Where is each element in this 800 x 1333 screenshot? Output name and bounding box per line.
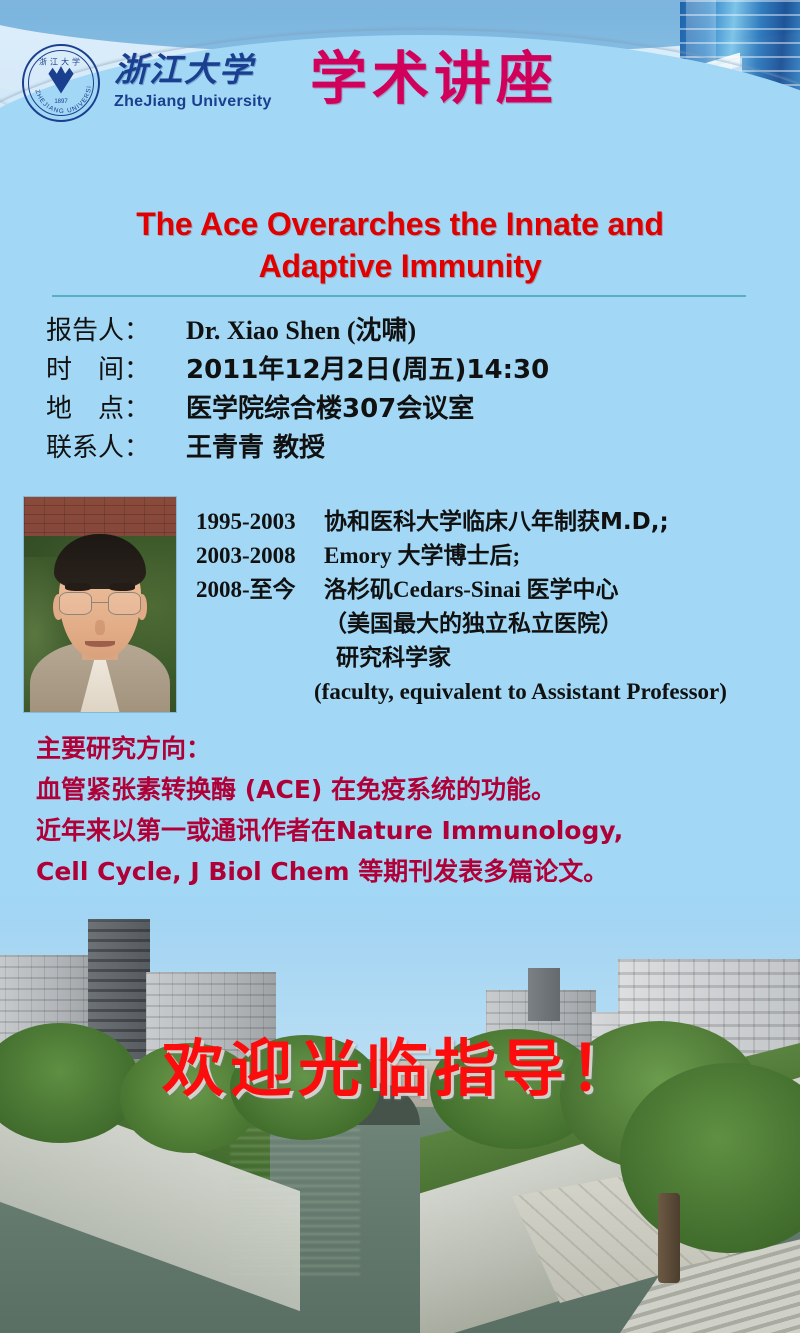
research-line: Cell Cycle, J Biol Chem 等期刊发表多篇论文。 [36, 851, 776, 892]
lecture-info-block: 报告人： Dr. Xiao Shen (沈啸) 时 间： 2011年12月2日(… [46, 310, 549, 466]
lecture-title-line-1: The Ace Overarches the Innate and [50, 203, 750, 245]
research-heading: 主要研究方向： [36, 728, 776, 769]
portrait-glasses [59, 592, 141, 616]
info-value-contact: 王青青 教授 [186, 427, 325, 464]
info-value-speaker: Dr. Xiao Shen (沈啸) [186, 310, 416, 347]
welcome-message: 欢迎光临指导！ [0, 1018, 800, 1108]
research-line: 血管紧张素转换酶 (ACE) 在免疫系统的功能。 [36, 769, 776, 810]
campus-building [528, 968, 560, 1021]
info-label-location: 地 点： [46, 388, 186, 425]
lecture-title-line-2: Adaptive Immunity [50, 245, 750, 287]
info-value-time: 2011年12月2日(周五)14:30 [186, 349, 549, 386]
bio-years: 1995-2003 [196, 505, 324, 539]
logo-chinese-name: 浙江大学 [114, 55, 272, 88]
info-row-speaker: 报告人： Dr. Xiao Shen (沈啸) [46, 310, 549, 349]
info-label-speaker: 报告人： [46, 310, 186, 347]
bio-extra-line: 研究科学家 [196, 641, 800, 675]
portrait-lens-right [108, 592, 141, 616]
info-value-location: 医学院综合楼307会议室 [186, 388, 474, 425]
info-row-time: 时 间： 2011年12月2日(周五)14:30 [46, 349, 549, 388]
lecture-title: The Ace Overarches the Innate and Adapti… [50, 203, 750, 287]
bio-years: 2003-2008 [196, 539, 324, 573]
university-logo: 浙江大学 1897 ZHEJIANG UNIVERSITY 浙江大学 ZheJi… [22, 44, 272, 122]
logo-text-block: 浙江大学 ZheJiang University [114, 55, 272, 111]
info-label-time: 时 间： [46, 349, 186, 386]
info-row-contact: 联系人： 王青青 教授 [46, 427, 549, 466]
info-label-contact: 联系人： [46, 427, 186, 464]
campus-photo [0, 893, 800, 1333]
bio-description: 协和医科大学临床八年制获M.D,; [324, 505, 669, 539]
title-divider [52, 295, 746, 297]
speaker-portrait-photo [24, 497, 176, 712]
bio-row: 2003-2008 Emory 大学博士后; [196, 539, 800, 573]
bio-extra-line: （美国最大的独立私立医院） [196, 607, 800, 641]
info-row-location: 地 点： 医学院综合楼307会议室 [46, 388, 549, 427]
svg-text:ZHEJIANG UNIVERSITY: ZHEJIANG UNIVERSITY [24, 46, 93, 115]
logo-english-name: ZheJiang University [114, 93, 272, 111]
zju-seal-icon: 浙江大学 1897 ZHEJIANG UNIVERSITY [22, 44, 100, 122]
portrait-eyebrow-right [109, 583, 135, 591]
portrait-eyebrow-left [65, 583, 91, 591]
tree-trunk [658, 1193, 680, 1283]
portrait-glasses-bridge [92, 602, 108, 604]
bio-description: 洛杉矶Cedars-Sinai 医学中心 [324, 573, 619, 607]
bio-description: Emory 大学博士后; [324, 539, 520, 573]
poster-header: 浙江大学 1897 ZHEJIANG UNIVERSITY 浙江大学 ZheJi… [0, 0, 800, 175]
bio-extra-line: (faculty, equivalent to Assistant Profes… [196, 675, 800, 709]
water-reflection [230, 1129, 360, 1279]
speaker-biography: 1995-2003 协和医科大学临床八年制获M.D,; 2003-2008 Em… [196, 505, 800, 709]
research-line: 近年来以第一或通讯作者在Nature Immunology, [36, 810, 776, 851]
portrait-lens-left [59, 592, 92, 616]
research-interests-block: 主要研究方向： 血管紧张素转换酶 (ACE) 在免疫系统的功能。 近年来以第一或… [36, 728, 776, 892]
bio-row: 1995-2003 协和医科大学临床八年制获M.D,; [196, 505, 800, 539]
seminar-poster: 浙江大学 1897 ZHEJIANG UNIVERSITY 浙江大学 ZheJi… [0, 0, 800, 1333]
seal-ring-text: ZHEJIANG UNIVERSITY [24, 46, 98, 120]
portrait-nose [95, 620, 104, 635]
campus-photo-top-fade [0, 893, 800, 923]
banner-title: 学术讲座 [310, 33, 558, 115]
bio-years: 2008-至今 [196, 573, 324, 607]
bio-row: 2008-至今 洛杉矶Cedars-Sinai 医学中心 [196, 573, 800, 607]
